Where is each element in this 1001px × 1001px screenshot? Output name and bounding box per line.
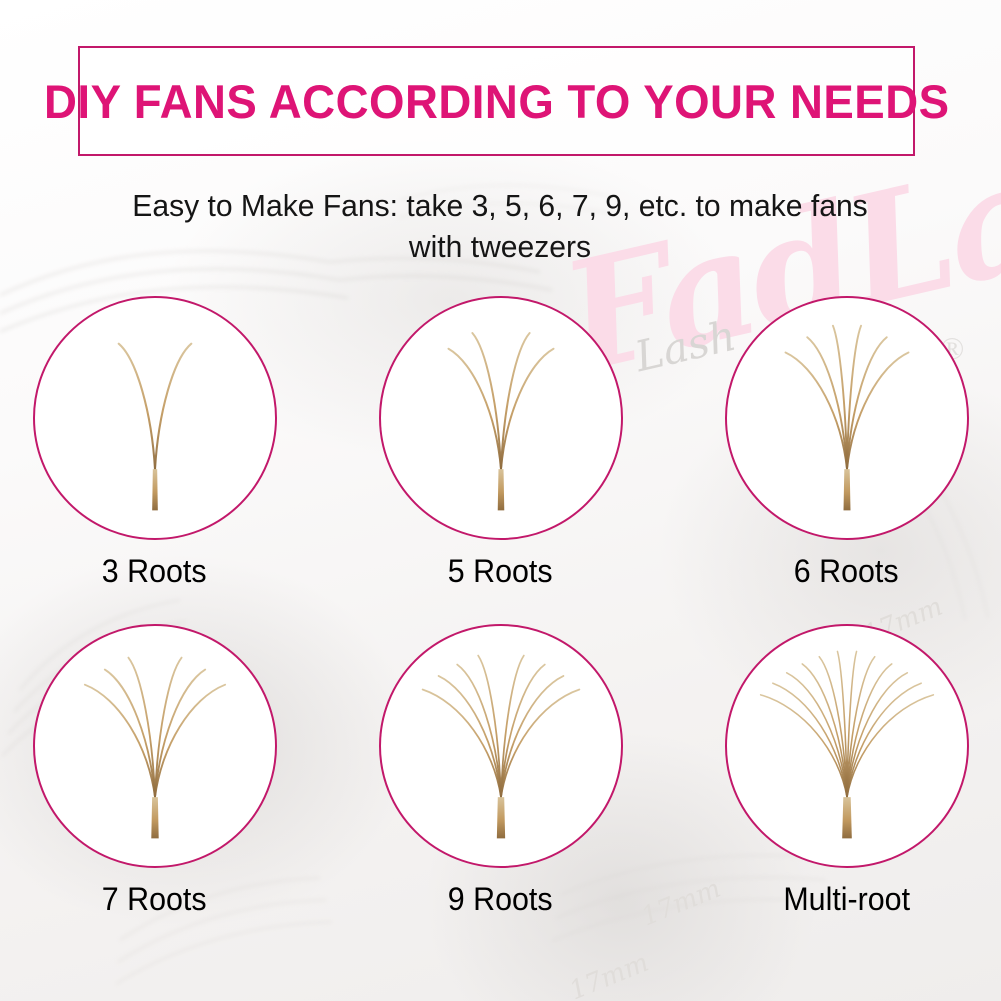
- title-banner: DIY FANS ACCORDING TO YOUR NEEDS: [78, 46, 915, 156]
- fan-label-5-roots: 5 Roots: [448, 553, 553, 590]
- lash-strand: [448, 349, 501, 469]
- lash-strand: [501, 333, 530, 469]
- lash-strand: [472, 333, 501, 469]
- page-title: DIY FANS ACCORDING TO YOUR NEEDS: [44, 74, 950, 129]
- fan-grid: 3 Roots 5 Roots 6 Roots 7 Roots 9 Roots: [0, 296, 1001, 918]
- lash-base-stem: [496, 797, 504, 838]
- fan-6-roots: [727, 296, 967, 538]
- lash-strand: [501, 665, 545, 798]
- lash-strand: [807, 337, 847, 469]
- lash-base-stem: [497, 469, 504, 510]
- fan-cell-6-roots[interactable]: 6 Roots: [699, 296, 995, 590]
- fan-5-roots: [381, 296, 621, 538]
- fan-7-roots: [35, 624, 275, 866]
- row-spacer: [0, 590, 1001, 624]
- fan-cell-9-roots[interactable]: 9 Roots: [353, 624, 649, 918]
- lash-strand: [760, 695, 846, 797]
- lash-base-stem: [843, 469, 850, 510]
- fan-cell-3-roots[interactable]: 3 Roots: [7, 296, 303, 590]
- lash-strand: [847, 337, 887, 469]
- lash-strand: [501, 349, 554, 469]
- fan-label-multi-root: Multi-root: [783, 881, 910, 918]
- fan-cell-multi-root[interactable]: Multi-root: [699, 624, 995, 918]
- fan-9-roots: [381, 624, 621, 866]
- fan-label-3-roots: 3 Roots: [102, 553, 207, 590]
- fan-label-6-roots: 6 Roots: [794, 553, 899, 590]
- lash-strand: [118, 344, 154, 469]
- fan-circle-multi-root: [725, 624, 969, 868]
- fan-cell-7-roots[interactable]: 7 Roots: [7, 624, 303, 918]
- lash-base-stem: [151, 797, 158, 838]
- lash-base-stem: [152, 469, 158, 510]
- lash-strand: [155, 344, 191, 469]
- lash-strand: [457, 665, 501, 798]
- fan-3-roots: [35, 296, 275, 538]
- lash-strand: [155, 670, 205, 798]
- fan-label-7-roots: 7 Roots: [102, 881, 207, 918]
- lash-base-stem: [842, 797, 852, 838]
- fan-grid-row-2: 7 Roots 9 Roots Multi-root: [0, 624, 1001, 918]
- fan-circle-9-roots: [379, 624, 623, 868]
- fan-grid-row-1: 3 Roots 5 Roots 6 Roots: [0, 296, 1001, 590]
- lash-strand: [104, 670, 154, 798]
- fan-circle-5-roots: [379, 296, 623, 540]
- lash-strand: [847, 352, 908, 469]
- lash-strand: [847, 695, 933, 797]
- subtitle-text: Easy to Make Fans: take 3, 5, 6, 7, 9, e…: [102, 185, 897, 267]
- fan-circle-6-roots: [725, 296, 969, 540]
- fan-cell-5-roots[interactable]: 5 Roots: [353, 296, 649, 590]
- fan-multi-root: [727, 624, 967, 866]
- fan-circle-3-roots: [33, 296, 277, 540]
- fan-label-9-roots: 9 Roots: [448, 881, 553, 918]
- fan-circle-7-roots: [33, 624, 277, 868]
- lash-strand: [785, 352, 846, 469]
